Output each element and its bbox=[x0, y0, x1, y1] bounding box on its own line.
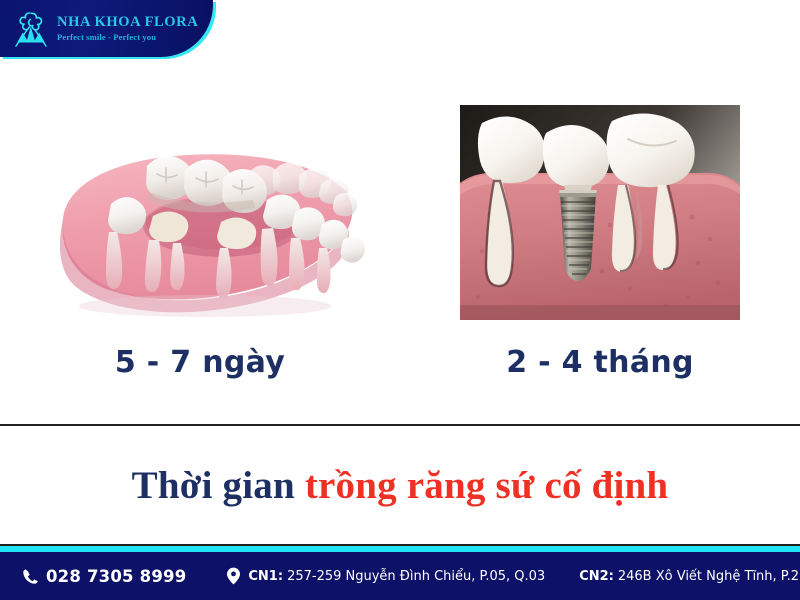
headline-part-red: trồng răng sứ cố định bbox=[305, 464, 668, 507]
footer-phone-number: 028 7305 8999 bbox=[46, 567, 186, 586]
page-title: Thời gian trồng răng sứ cố định bbox=[132, 463, 669, 508]
headline-band: Thời gian trồng răng sứ cố định bbox=[0, 426, 800, 544]
contact-footer: 028 7305 8999 CN1: 257-259 Nguyễn Đình C… bbox=[0, 552, 800, 600]
bridge-figure-wrap bbox=[0, 97, 400, 327]
panel-bridge: 5 - 7 ngày bbox=[0, 57, 400, 425]
footer-branch-2[interactable]: CN2: 246B Xô Viết Nghệ Tĩnh, P.21, Q. Bì… bbox=[579, 569, 800, 584]
footer-branch-2-address: 246B Xô Viết Nghệ Tĩnh, P.21, Q. Bình Th… bbox=[618, 569, 800, 584]
caption-bridge: 5 - 7 ngày bbox=[0, 345, 400, 380]
headline-part-navy: Thời gian bbox=[132, 464, 295, 507]
implant-figure-wrap bbox=[400, 97, 800, 327]
map-pin-icon bbox=[226, 567, 241, 585]
caption-implant: 2 - 4 tháng bbox=[400, 345, 800, 380]
footer-phone-group[interactable]: 028 7305 8999 bbox=[22, 567, 186, 586]
dental-bridge-jaw-model-image bbox=[35, 100, 365, 325]
brand-text-block: NHA KHOA FLORA Perfect smile - Perfect y… bbox=[57, 15, 198, 41]
brand-header: NHA KHOA FLORA Perfect smile - Perfect y… bbox=[0, 0, 213, 57]
footer-branch-1-address: 257-259 Nguyễn Đình Chiểu, P.05, Q.03 bbox=[287, 569, 545, 584]
dental-implant-cross-section-photo bbox=[460, 105, 740, 320]
flora-tooth-logo-icon bbox=[10, 9, 52, 49]
comparison-content: 5 - 7 ngày bbox=[0, 57, 800, 425]
panel-implant: 2 - 4 tháng bbox=[400, 57, 800, 425]
brand-tagline: Perfect smile - Perfect you bbox=[57, 33, 198, 42]
footer-branch-2-label: CN2: bbox=[579, 569, 614, 584]
phone-icon bbox=[22, 568, 39, 585]
brand-name: NHA KHOA FLORA bbox=[57, 15, 198, 30]
footer-branch-1-label: CN1: bbox=[248, 569, 283, 584]
footer-branch-1[interactable]: CN1: 257-259 Nguyễn Đình Chiểu, P.05, Q.… bbox=[226, 567, 545, 585]
